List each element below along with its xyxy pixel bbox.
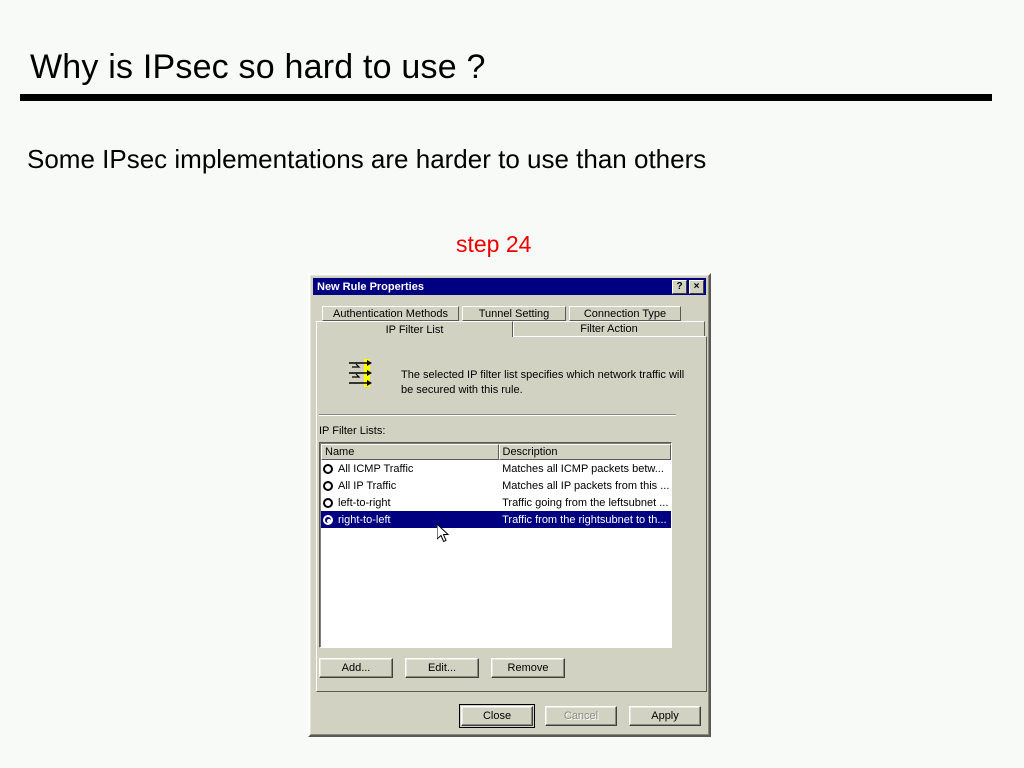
tab-connection-type[interactable]: Connection Type	[569, 306, 681, 321]
edit-button[interactable]: Edit...	[405, 658, 479, 678]
title-underline-rule	[20, 94, 992, 101]
panel-separator	[319, 414, 676, 416]
listview-inner: Name Description All ICMP Traffic Matche…	[320, 443, 671, 647]
radio-icon[interactable]	[323, 481, 333, 491]
listview-header: Name Description	[321, 444, 671, 460]
row-name: All IP Traffic	[338, 480, 502, 492]
tab-label: Tunnel Setting	[479, 308, 550, 320]
ip-filter-list-icon	[347, 358, 373, 388]
close-icon[interactable]: ×	[689, 280, 704, 294]
table-row[interactable]: left-to-right Traffic going from the lef…	[321, 494, 671, 511]
column-header-description[interactable]: Description	[499, 444, 672, 460]
tab-strip-top: Authentication Methods Tunnel Setting Co…	[322, 306, 681, 321]
tab-label: Authentication Methods	[333, 308, 448, 320]
new-rule-properties-dialog: New Rule Properties ? × Authentication M…	[308, 273, 711, 737]
step-label: step 24	[456, 231, 531, 258]
row-name: All ICMP Traffic	[338, 463, 502, 475]
tab-ip-filter-list[interactable]: IP Filter List	[316, 321, 513, 337]
radio-icon-selected[interactable]	[323, 515, 333, 525]
table-row[interactable]: All IP Traffic Matches all IP packets fr…	[321, 477, 671, 494]
help-icon[interactable]: ?	[672, 280, 687, 294]
dialog-action-bar: Close Cancel Apply	[316, 703, 707, 729]
ip-filter-list-panel: The selected IP filter list specifies wh…	[316, 336, 707, 692]
dialog-title: New Rule Properties	[313, 281, 672, 293]
ip-filter-lists-listview[interactable]: Name Description All ICMP Traffic Matche…	[319, 442, 672, 648]
slide-subtitle: Some IPsec implementations are harder to…	[27, 144, 706, 175]
tab-label: Filter Action	[580, 323, 637, 335]
dialog-titlebar[interactable]: New Rule Properties ? ×	[313, 278, 706, 295]
filter-list-description: The selected IP filter list specifies wh…	[401, 368, 687, 397]
row-name: right-to-left	[338, 514, 502, 526]
page-title: Why is IPsec so hard to use ?	[30, 48, 486, 87]
tab-authentication-methods[interactable]: Authentication Methods	[322, 306, 459, 321]
row-description: Traffic from the rightsubnet to th...	[502, 514, 671, 526]
remove-button[interactable]: Remove	[491, 658, 565, 678]
radio-icon[interactable]	[323, 498, 333, 508]
row-description: Matches all ICMP packets betw...	[502, 463, 671, 475]
tab-strip-bottom: IP Filter List Filter Action	[316, 321, 705, 337]
ip-filter-lists-label: IP Filter Lists:	[319, 425, 385, 437]
tab-filter-action[interactable]: Filter Action	[513, 321, 705, 337]
radio-icon[interactable]	[323, 464, 333, 474]
tab-label: IP Filter List	[386, 324, 444, 336]
add-button[interactable]: Add...	[319, 658, 393, 678]
tab-label: Connection Type	[584, 308, 666, 320]
table-row[interactable]: All ICMP Traffic Matches all ICMP packet…	[321, 460, 671, 477]
row-description: Matches all IP packets from this ...	[502, 480, 671, 492]
tab-tunnel-setting[interactable]: Tunnel Setting	[462, 306, 566, 321]
row-description: Traffic going from the leftsubnet ...	[502, 497, 671, 509]
list-action-buttons: Add... Edit... Remove	[319, 658, 565, 678]
row-name: left-to-right	[338, 497, 502, 509]
close-button[interactable]: Close	[461, 706, 533, 726]
cancel-button: Cancel	[545, 706, 617, 726]
column-header-name[interactable]: Name	[321, 444, 499, 460]
apply-button[interactable]: Apply	[629, 706, 701, 726]
table-row[interactable]: right-to-left Traffic from the rightsubn…	[321, 511, 671, 528]
